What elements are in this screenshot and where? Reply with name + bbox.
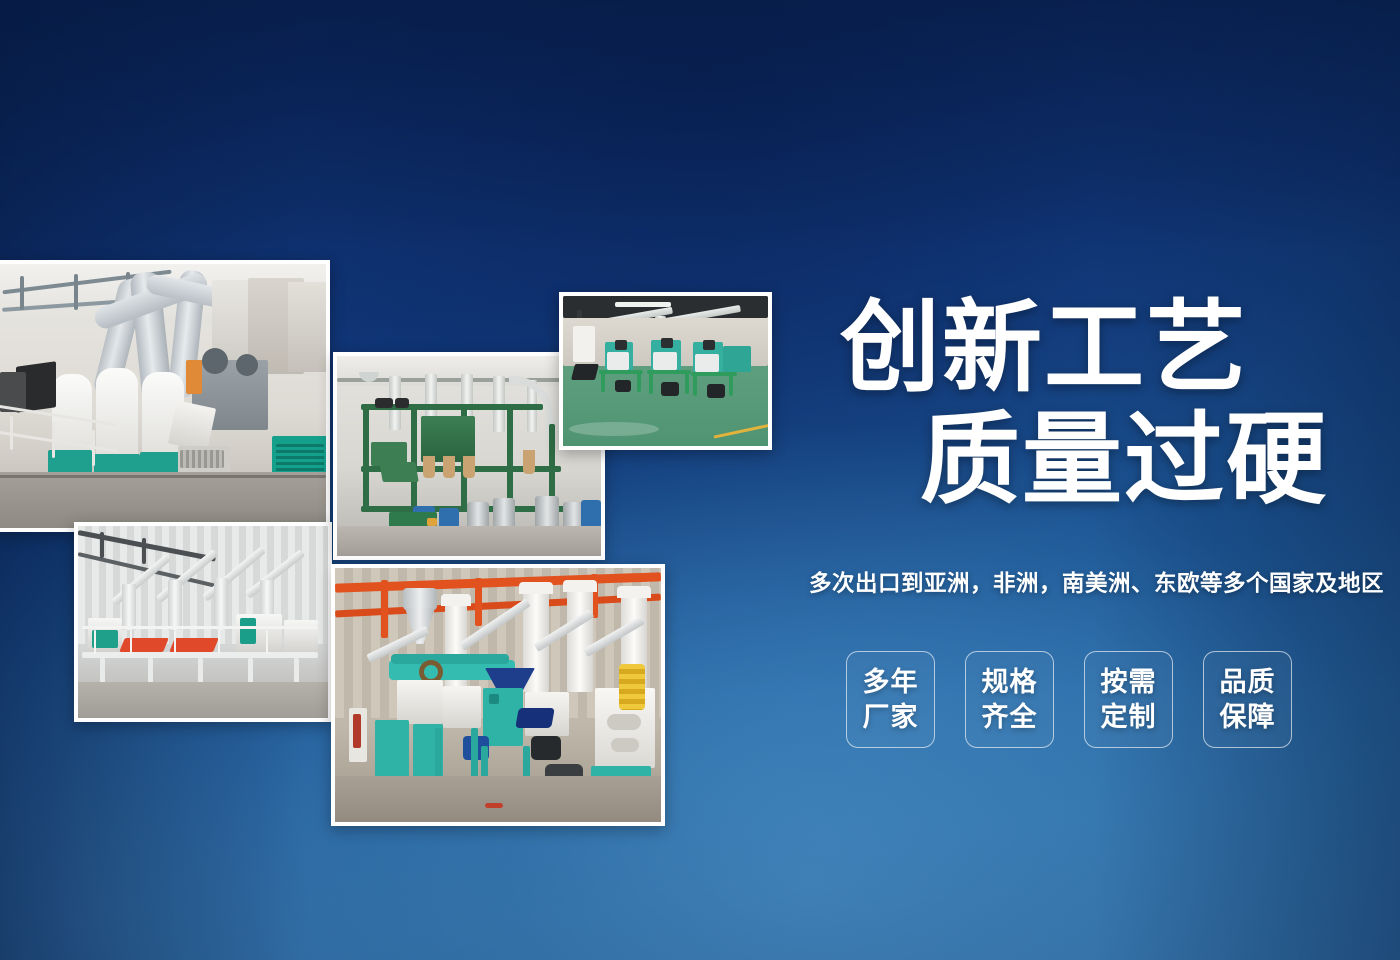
badge-full-specifications-line-1: 规格 <box>982 665 1038 700</box>
badge-full-specifications[interactable]: 规格 齐全 <box>965 651 1054 748</box>
photo-teal-flour-machines-row <box>559 292 772 450</box>
photo-combined-milling-machinery <box>331 564 665 826</box>
headline: 创新工艺 质量过硬 <box>760 292 1360 516</box>
badge-quality-guarantee[interactable]: 品质 保障 <box>1203 651 1292 748</box>
promo-banner: 创新工艺 质量过硬 多次出口到亚洲，非洲，南美洲、东欧等多个国家及地区 多年 厂… <box>0 0 1400 960</box>
badge-full-specifications-line-2: 齐全 <box>982 700 1038 735</box>
badge-custom-made-line-2: 定制 <box>1101 700 1157 735</box>
badge-years-manufacturer-line-1: 多年 <box>863 665 919 700</box>
feature-badge-list: 多年 厂家 规格 齐全 按需 定制 品质 保障 <box>846 651 1292 748</box>
headline-line-1: 创新工艺 <box>760 292 1360 404</box>
photo-rice-milling-line-overview <box>0 260 330 532</box>
subtitle: 多次出口到亚洲，非洲，南美洲、东欧等多个国家及地区 <box>700 566 1384 598</box>
badge-custom-made[interactable]: 按需 定制 <box>1084 651 1173 748</box>
badge-years-manufacturer[interactable]: 多年 厂家 <box>846 651 935 748</box>
badge-quality-guarantee-line-1: 品质 <box>1220 665 1276 700</box>
badge-quality-guarantee-line-2: 保障 <box>1220 700 1276 735</box>
badge-years-manufacturer-line-2: 厂家 <box>863 700 919 735</box>
badge-custom-made-line-1: 按需 <box>1101 665 1157 700</box>
headline-line-2: 质量过硬 <box>760 404 1360 516</box>
photo-flour-mill-plant-interior <box>74 522 332 722</box>
